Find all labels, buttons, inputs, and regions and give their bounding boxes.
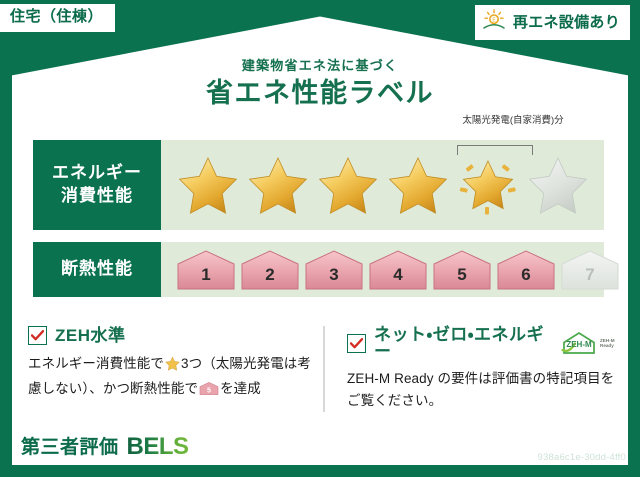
label-subtitle: 建築物省エネ法に基づく: [0, 58, 640, 74]
bels-logo-text: BELS: [127, 435, 189, 459]
svg-text:5: 5: [207, 386, 211, 394]
insulation-grade-1: 1: [175, 248, 237, 292]
insulation-label: 断熱性能: [61, 258, 133, 281]
star-filled-3: [315, 152, 381, 218]
zeh-standard-checkbox: [28, 326, 47, 345]
svg-text:Ready: Ready: [600, 343, 614, 348]
info-columns: ZEH水準 エネルギー消費性能で3つ（太陽光発電は考慮しない）、かつ断熱性能で5…: [28, 326, 618, 412]
insulation-grade-3-value: 3: [329, 266, 338, 292]
solar-generation-note-text: 太陽光発電(自家消費)分: [462, 115, 563, 126]
insulation-grade-area: 1 2 3 4: [161, 242, 604, 297]
energy-label-line1: エネルギー: [52, 162, 142, 185]
star-filled-2: [245, 152, 311, 218]
evaluation-date: 評価日 2025年9月5日: [492, 434, 626, 448]
net-zero-energy-header: ネット・ゼロ・エネルギー ZEH-M ZEH-M Ready: [347, 326, 618, 360]
svg-text:ZEH-M: ZEH-M: [566, 340, 592, 349]
inline-star-icon: [165, 356, 180, 378]
zeh-body-part1: エネルギー消費性能で: [28, 356, 164, 371]
category-tab-label: 住宅（住棟）: [10, 8, 103, 25]
energy-performance-row: エネルギー 消費性能 太陽光発電(自家消費)分: [33, 140, 604, 230]
insulation-grade-3: 3: [303, 248, 365, 292]
star-filled-4: [385, 152, 451, 218]
energy-performance-stars-area: 太陽光発電(自家消費)分: [161, 140, 604, 230]
insulation-grade-2-value: 2: [265, 266, 274, 292]
check-icon: [350, 338, 363, 349]
insulation-performance-row: 断熱性能: [33, 242, 604, 297]
category-tab: 住宅（住棟）: [0, 4, 115, 32]
zeh-m-ready-logo: ZEH-M ZEH-M Ready: [560, 330, 618, 356]
insulation-grade-6-value: 6: [521, 266, 530, 292]
zeh-standard-body: エネルギー消費性能で3つ（太陽光発電は考慮しない）、かつ断熱性能で5を達成: [28, 353, 323, 403]
star-filled-5-solar: [455, 152, 521, 218]
insulation-grade-1-value: 1: [201, 266, 210, 292]
net-zero-energy-checkbox: [347, 334, 366, 353]
net-zero-energy-column: ネット・ゼロ・エネルギー ZEH-M ZEH-M Ready ZEH-M Rea…: [323, 326, 618, 412]
zeh-body-part3: を達成: [220, 381, 261, 396]
net-zero-energy-body: ZEH-M Ready の要件は評価書の特記項目をご覧ください。: [347, 368, 618, 412]
insulation-performance-label-box: 断熱性能: [33, 242, 161, 297]
insulation-grade-6: 6: [495, 248, 557, 292]
energy-performance-label: 住宅（住棟） E 再エネ設備あり 建築物省エネ法に基づく 省エネ性能ラベル: [0, 0, 640, 477]
solar-sun-icon: E: [481, 9, 507, 36]
insulation-grade-4-value: 4: [393, 266, 402, 292]
property-name: アビテ明大前: [215, 440, 292, 453]
zeh-standard-header: ZEH水準: [28, 326, 323, 345]
zeh-standard-column: ZEH水準 エネルギー消費性能で3つ（太陽光発電は考慮しない）、かつ断熱性能で5…: [28, 326, 323, 412]
insulation-grade-5: 5: [431, 248, 493, 292]
insulation-grade-7: 7: [559, 248, 621, 292]
star-empty-6: [525, 152, 591, 218]
insulation-grade-2: 2: [239, 248, 301, 292]
solar-note-bracket: [457, 145, 533, 155]
insulation-grade-4: 4: [367, 248, 429, 292]
zeh-standard-title: ZEH水準: [55, 327, 126, 344]
bels-jp-label: 第三者評価: [21, 438, 119, 457]
inline-house-grade-icon: 5: [199, 381, 219, 403]
renewable-energy-badge: E 再エネ設備あり: [475, 5, 630, 40]
check-icon: [31, 330, 44, 341]
evaluation-id: 938a6c1e-30dd-4ff0: [538, 453, 626, 463]
star-rating: [161, 152, 591, 218]
label-main-title: 省エネ性能ラベル: [0, 77, 640, 111]
solar-generation-note: 太陽光発電(自家消費)分: [423, 110, 603, 128]
star-filled-1: [175, 152, 241, 218]
energy-label-line2: 消費性能: [61, 185, 133, 208]
footer: 第三者評価 BELS アビテ明大前 評価日 2025年9月5日 938a6c1e…: [0, 429, 640, 477]
insulation-grade-5-value: 5: [457, 266, 466, 292]
insulation-grade-7-value: 7: [585, 266, 594, 292]
net-zero-energy-title: ネット・ゼロ・エネルギー: [374, 326, 548, 360]
renewable-energy-label: 再エネ設備あり: [513, 15, 620, 30]
energy-performance-label-box: エネルギー 消費性能: [33, 140, 161, 230]
insulation-grade-scale: 1 2 3 4: [161, 248, 621, 292]
label-title: 建築物省エネ法に基づく 省エネ性能ラベル: [0, 58, 640, 110]
bels-certification-plate: 第三者評価 BELS: [12, 431, 197, 463]
